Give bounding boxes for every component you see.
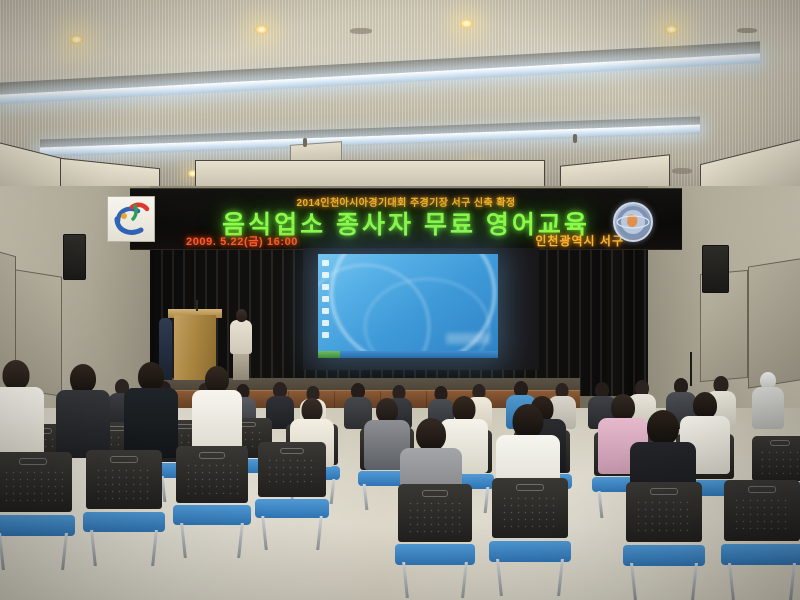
person-torso <box>124 388 178 458</box>
desktop-icon <box>322 284 329 290</box>
chair-leg <box>237 523 244 558</box>
ceiling-downlight <box>70 35 83 44</box>
incheon-seogu-emblem-icon <box>107 196 155 242</box>
chair-leg <box>151 530 158 566</box>
chair-leg <box>789 563 796 600</box>
ceiling <box>0 0 800 196</box>
chair-back <box>86 450 162 509</box>
chair-handle <box>199 452 225 459</box>
chair-leg <box>180 523 187 558</box>
chair-leg <box>61 533 68 570</box>
chair-handle <box>650 488 677 495</box>
person-torso <box>0 387 44 459</box>
chair-seat <box>489 541 571 562</box>
audience-person <box>56 364 110 456</box>
desktop-icon <box>322 308 329 314</box>
chair-leg <box>691 563 698 600</box>
chair-back <box>398 484 472 542</box>
chair-seat <box>83 512 165 533</box>
led-banner-board: 2014인천아시아경기대회 주경기장 서구 신축 확정 음식업소 종사자 무료 … <box>130 188 682 250</box>
chair-leg <box>630 563 637 600</box>
chair-handle <box>516 484 543 491</box>
chair-leg <box>316 516 323 550</box>
chair-seat <box>721 544 800 565</box>
presenter-body <box>230 320 252 354</box>
chair-handle <box>422 490 449 497</box>
desktop-icon <box>322 272 329 278</box>
ceiling-downlight <box>460 19 473 28</box>
desktop-icon <box>322 260 329 266</box>
chair-seat <box>255 499 328 518</box>
chair-back <box>0 452 72 512</box>
desktop-icon <box>322 332 329 338</box>
person-head <box>693 392 717 419</box>
chair-leg <box>262 516 269 550</box>
banner-date-time: 2009. 5.22(금) 16:00 <box>186 233 298 249</box>
chair-handle <box>19 458 47 465</box>
audience-person <box>0 360 44 456</box>
chair-handle <box>748 486 775 493</box>
chair-back <box>626 482 702 542</box>
ceiling-vent <box>672 168 692 174</box>
wall-mounted-speaker-left <box>63 234 86 280</box>
audience-person-with-cap <box>752 372 784 428</box>
chair-leg <box>90 530 97 566</box>
chair-back <box>492 478 568 538</box>
projection-screen <box>318 254 498 358</box>
chair <box>398 484 472 596</box>
chair <box>0 452 72 568</box>
chair-leg <box>461 562 468 598</box>
chair <box>258 442 326 548</box>
desktop-icon <box>322 296 329 302</box>
chair-leg <box>728 563 735 600</box>
chair-handle <box>770 440 790 445</box>
ceiling-downlight <box>255 25 268 34</box>
chair-seat <box>0 515 75 536</box>
chair-seat <box>395 544 475 564</box>
chair-leg <box>496 559 503 596</box>
chair-leg <box>0 533 5 570</box>
chair <box>724 480 800 598</box>
chair-handle <box>110 456 137 463</box>
chair-back <box>176 446 248 503</box>
person-head <box>3 360 30 390</box>
ceiling-speaker-pendant <box>303 138 307 147</box>
circular-globe-emblem-icon <box>613 202 653 242</box>
chair-leg <box>330 479 336 504</box>
ceiling-speaker-pendant <box>573 134 577 143</box>
chair-back <box>724 480 800 541</box>
chair <box>86 450 162 564</box>
taskbar-start-button <box>318 351 340 358</box>
wall-mounted-speaker-right <box>702 245 729 293</box>
chair <box>176 446 248 556</box>
desktop-icon <box>322 320 329 326</box>
person-head <box>205 366 229 393</box>
audience-person <box>192 366 242 454</box>
chair-seat <box>623 545 705 566</box>
wall-panel-right <box>748 257 800 388</box>
person-head <box>647 410 679 445</box>
screen-watermark <box>446 333 490 344</box>
chair-leg <box>483 487 489 513</box>
person-head <box>70 364 96 393</box>
person-torso <box>56 390 110 458</box>
chair-leg <box>402 562 409 598</box>
audience-person <box>124 362 178 456</box>
chair-leg <box>557 559 564 596</box>
ceiling-vent <box>737 28 757 33</box>
chair-leg <box>597 491 603 518</box>
desktop-taskbar <box>318 351 498 358</box>
microphone-stand <box>690 352 692 386</box>
chair-handle <box>280 448 304 455</box>
ceiling-downlight <box>665 25 678 34</box>
banner-organization: 인천광역시 서구 <box>535 232 624 249</box>
chair <box>626 482 702 598</box>
person-head <box>513 404 544 438</box>
chair-back <box>752 436 800 481</box>
lectern-microphone <box>196 300 198 311</box>
chair-leg <box>363 484 369 510</box>
ceiling-vent <box>350 28 372 34</box>
person-head <box>138 362 164 391</box>
presenter-head <box>236 309 247 322</box>
person-torso <box>752 387 784 429</box>
auditorium-photo: 2014인천아시아경기대회 주경기장 서구 신축 확정 음식업소 종사자 무료 … <box>0 0 800 600</box>
person-head <box>416 418 446 451</box>
chair-seat <box>173 505 251 525</box>
chair-back <box>258 442 326 497</box>
chair <box>492 478 568 594</box>
